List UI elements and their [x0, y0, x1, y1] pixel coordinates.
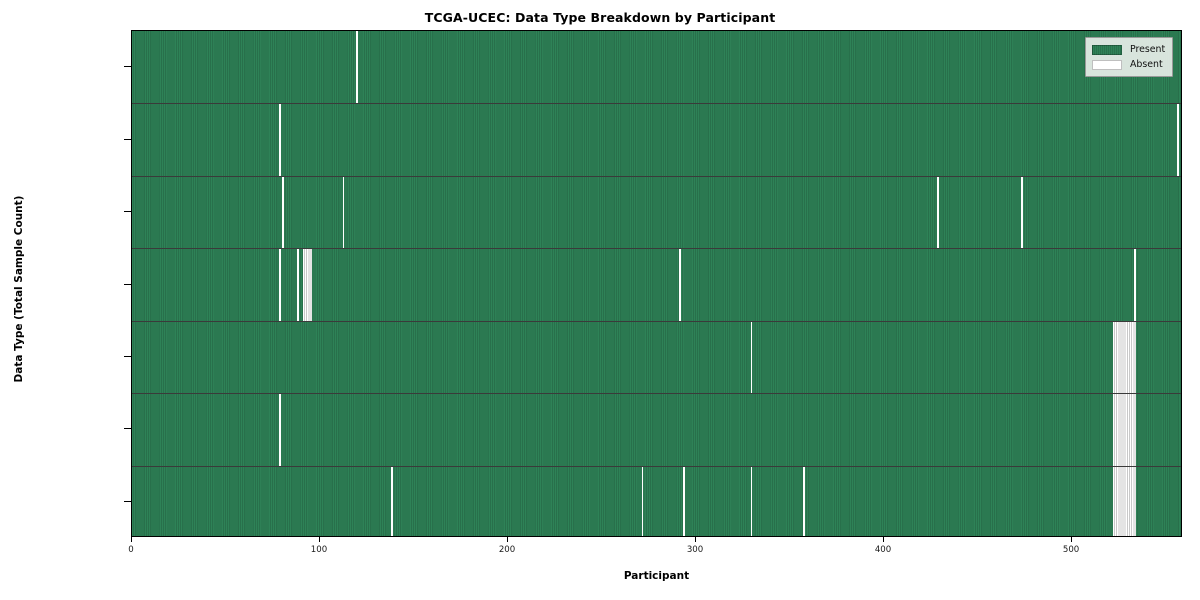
heatmap-absent-cell — [356, 31, 358, 103]
y-tick-mark — [124, 211, 131, 212]
heatmap-row[interactable] — [132, 321, 1181, 393]
heatmap-absent-cell — [1021, 176, 1023, 248]
x-tick-mark — [131, 537, 132, 542]
y-tick-mark — [124, 284, 131, 285]
x-tick-mark — [507, 537, 508, 542]
heatmap-row[interactable] — [132, 176, 1181, 248]
legend-swatch-present-icon — [1092, 45, 1122, 55]
heatmap-absent-cell — [343, 176, 345, 248]
heatmap-row-separator — [132, 466, 1181, 467]
heatmap-row-present-band — [132, 248, 1181, 320]
heatmap-row[interactable] — [132, 103, 1181, 175]
x-tick-mark — [695, 537, 696, 542]
heatmap-plot-area[interactable] — [131, 30, 1182, 537]
heatmap-row[interactable] — [132, 466, 1181, 537]
x-tick-mark — [883, 537, 884, 542]
heatmap-absent-cell — [279, 103, 281, 175]
heatmap-row-present-band — [132, 393, 1181, 465]
heatmap-row-present-band — [132, 176, 1181, 248]
y-tick-mark — [124, 501, 131, 502]
heatmap-absent-cell — [1113, 466, 1136, 537]
heatmap-absent-cell — [282, 176, 284, 248]
chart-figure: TCGA-UCEC: Data Type Breakdown by Partic… — [0, 0, 1200, 600]
heatmap-row[interactable] — [132, 393, 1181, 465]
x-axis-label: Participant — [131, 570, 1182, 582]
legend-item-present[interactable]: Present — [1092, 42, 1165, 57]
x-tick-label: 500 — [1063, 545, 1079, 555]
heatmap-absent-cell — [683, 466, 685, 537]
x-tick-label: 300 — [687, 545, 703, 555]
chart-title: TCGA-UCEC: Data Type Breakdown by Partic… — [0, 10, 1200, 25]
heatmap-row-present-band — [132, 103, 1181, 175]
heatmap-absent-cell — [391, 466, 393, 537]
heatmap-absent-cell — [642, 466, 644, 537]
heatmap-row-separator — [132, 103, 1181, 104]
legend-label-absent: Absent — [1130, 59, 1163, 70]
x-tick-label: 0 — [128, 545, 133, 555]
heatmap-absent-cell — [1113, 393, 1136, 465]
heatmap-absent-cell — [279, 248, 281, 320]
heatmap-absent-cell — [297, 248, 299, 320]
heatmap-row[interactable] — [132, 248, 1181, 320]
heatmap-row-separator — [132, 393, 1181, 394]
heatmap-row-present-band — [132, 31, 1181, 103]
x-tick-label: 400 — [875, 545, 891, 555]
x-tick-mark — [1071, 537, 1072, 542]
y-tick-mark — [124, 139, 131, 140]
heatmap-row-separator — [132, 176, 1181, 177]
heatmap-absent-cell — [279, 393, 281, 465]
y-tick-mark — [124, 428, 131, 429]
x-tick-label: 100 — [311, 545, 327, 555]
legend-label-present: Present — [1130, 44, 1165, 55]
legend-item-absent[interactable]: Absent — [1092, 57, 1165, 72]
heatmap-absent-cell — [1177, 103, 1179, 175]
heatmap-absent-cell — [1113, 321, 1136, 393]
heatmap-absent-cell — [937, 176, 939, 248]
x-tick-mark — [319, 537, 320, 542]
heatmap-absent-cell — [679, 248, 681, 320]
y-tick-mark — [124, 356, 131, 357]
heatmap-absent-cell — [751, 321, 753, 393]
heatmap-row-separator — [132, 248, 1181, 249]
y-axis-label: Data Type (Total Sample Count) — [13, 29, 25, 549]
heatmap-row-separator — [132, 321, 1181, 322]
legend-swatch-absent-icon — [1092, 60, 1122, 70]
heatmap-row[interactable] — [132, 31, 1181, 103]
heatmap-row-present-band — [132, 321, 1181, 393]
x-tick-label: 200 — [499, 545, 515, 555]
heatmap-absent-cell — [751, 466, 753, 537]
heatmap-absent-cell — [803, 466, 805, 537]
y-tick-mark — [124, 66, 131, 67]
heatmap-absent-cell — [1134, 248, 1136, 320]
chart-legend[interactable]: Present Absent — [1085, 37, 1173, 77]
heatmap-absent-cell — [303, 248, 312, 320]
heatmap-row-present-band — [132, 466, 1181, 537]
